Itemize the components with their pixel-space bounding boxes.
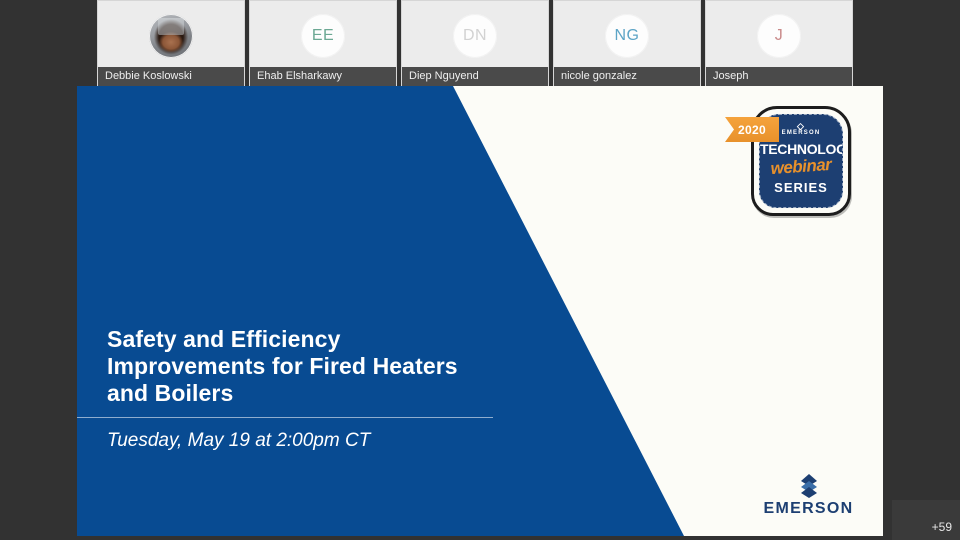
badge-year-ribbon: 2020: [725, 117, 779, 142]
emerson-logo: EMERSON: [756, 474, 861, 518]
technology-webinar-series-badge: 2020 ◇ EMERSON TECHNOLOGY webinar SERIES: [737, 106, 852, 221]
participant-tile[interactable]: J Joseph: [705, 0, 853, 87]
avatar: EE: [301, 14, 345, 58]
slide-title-line-2: Improvements for Fired Heaters: [107, 353, 527, 380]
avatar: NG: [605, 14, 649, 58]
participant-tile[interactable]: DN Diep Nguyend: [401, 0, 549, 87]
participant-name: Joseph: [706, 67, 852, 86]
participant-tile[interactable]: Debbie Koslowski: [97, 0, 245, 87]
participant-tile[interactable]: NG nicole gonzalez: [553, 0, 701, 87]
overflow-participant-count[interactable]: +59: [892, 500, 960, 540]
avatar: J: [757, 14, 801, 58]
badge-line-2: webinar: [759, 154, 842, 180]
webinar-screen: Debbie Koslowski EE Ehab Elsharkawy DN D…: [0, 0, 960, 540]
slide-title: Safety and Efficiency Improvements for F…: [107, 326, 527, 407]
shared-slide[interactable]: Safety and Efficiency Improvements for F…: [77, 86, 883, 536]
avatar: [149, 14, 193, 58]
participant-name: Diep Nguyend: [402, 67, 548, 86]
emerson-diamond-icon: [799, 474, 819, 498]
badge-line-3: SERIES: [760, 180, 842, 195]
participant-filmstrip: Debbie Koslowski EE Ehab Elsharkawy DN D…: [97, 0, 860, 87]
badge-brand-label: EMERSON: [782, 130, 821, 136]
slide-title-line-1: Safety and Efficiency: [107, 326, 527, 353]
emerson-wordmark: EMERSON: [764, 500, 854, 517]
avatar: DN: [453, 14, 497, 58]
slide-title-line-3: and Boilers: [107, 380, 527, 407]
title-divider: [77, 417, 493, 418]
participant-name: Debbie Koslowski: [98, 67, 244, 86]
participant-name: nicole gonzalez: [554, 67, 700, 86]
slide-subtitle: Tuesday, May 19 at 2:00pm CT: [107, 429, 547, 453]
participant-name: Ehab Elsharkawy: [250, 67, 396, 86]
participant-tile[interactable]: EE Ehab Elsharkawy: [249, 0, 397, 87]
